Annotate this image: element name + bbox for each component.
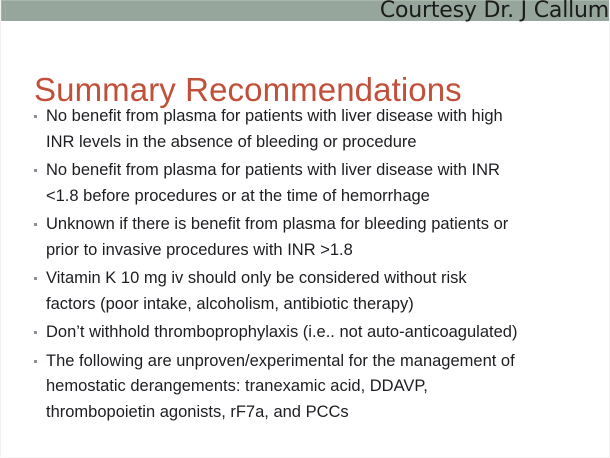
list-item-text: Vitamin K 10 mg iv should only be consid… (46, 266, 597, 317)
list-item: No benefit from plasma for patients with… (31, 104, 597, 155)
bullet-marker-icon (34, 223, 37, 226)
list-item: Don’t withhold thromboprophylaxis (i.e..… (31, 320, 597, 346)
recommendations-list: No benefit from plasma for patients with… (31, 104, 597, 428)
list-item-text: No benefit from plasma for patients with… (46, 104, 597, 155)
list-item-text: Don’t withhold thromboprophylaxis (i.e..… (46, 320, 597, 346)
list-item: Vitamin K 10 mg iv should only be consid… (31, 266, 597, 317)
attribution-text: Courtesy Dr. J Callum (380, 0, 609, 25)
bullet-marker-icon (34, 277, 37, 280)
list-item-text: No benefit from plasma for patients with… (46, 158, 597, 209)
list-item: Unknown if there is benefit from plasma … (31, 212, 597, 263)
presentation-slide: Courtesy Dr. J Callum Summary Recommenda… (0, 0, 610, 458)
bullet-marker-icon (34, 169, 37, 172)
bullet-marker-icon (34, 360, 37, 363)
list-item-text: The following are unproven/experimental … (46, 349, 597, 426)
bullet-marker-icon (34, 115, 37, 118)
list-item: The following are unproven/experimental … (31, 349, 597, 426)
list-item: No benefit from plasma for patients with… (31, 158, 597, 209)
bullet-marker-icon (34, 331, 37, 334)
header-attribution-band: Courtesy Dr. J Callum (1, 0, 610, 21)
list-item-text: Unknown if there is benefit from plasma … (46, 212, 597, 263)
